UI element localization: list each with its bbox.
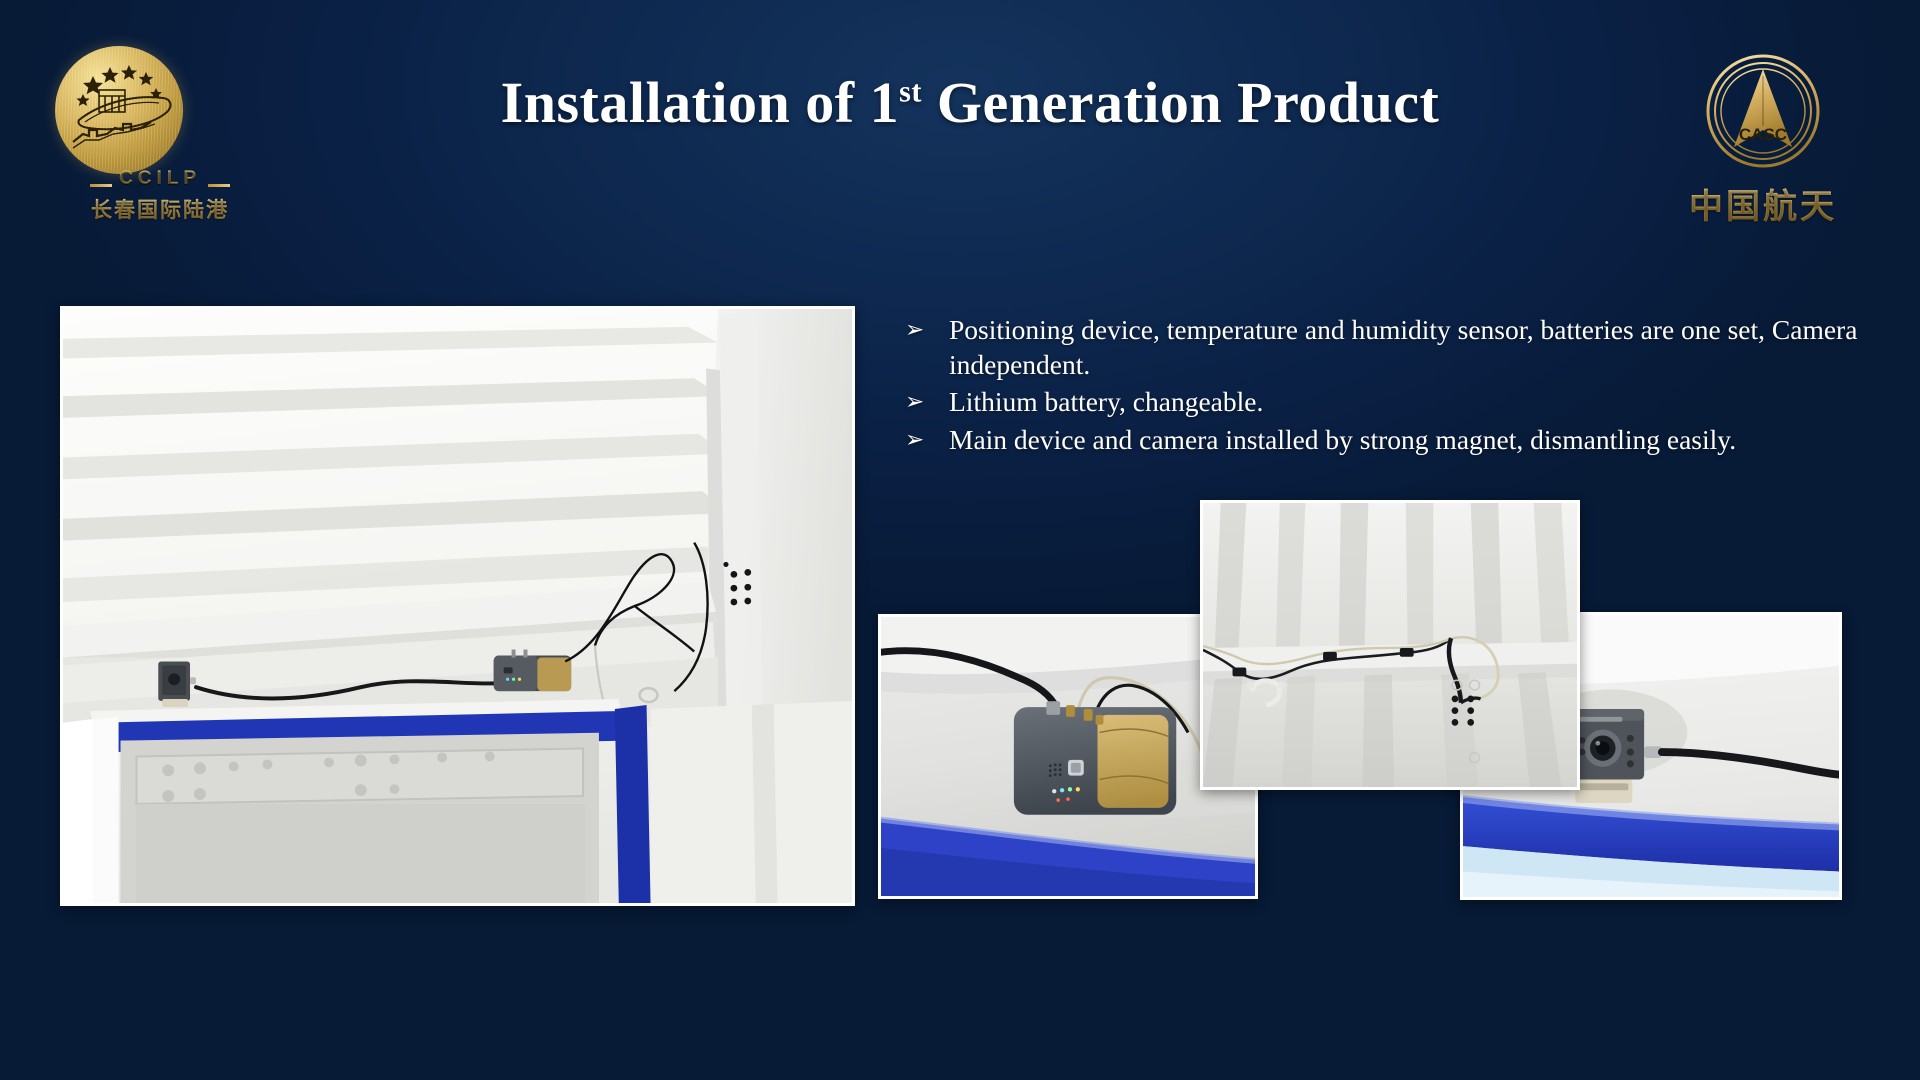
casc-chinese-text: 中国航天 <box>1658 179 1868 228</box>
slide-canvas: CCILP 长春国际陆港 CASC <box>0 0 1920 1080</box>
casc-seal-icon: CASC <box>1704 52 1822 170</box>
bullet-list: ➢ Positioning device, temperature and hu… <box>905 312 1865 459</box>
chevron-bullet-icon: ➢ <box>905 384 949 419</box>
title-ordinal-suffix: st <box>899 75 922 109</box>
photo-cable-routing-image <box>1203 503 1577 787</box>
ccilp-seal-icon <box>55 46 183 174</box>
bullet-text: Positioning device, temperature and humi… <box>949 312 1865 382</box>
casc-logo: CASC 中国航天 <box>1658 52 1868 228</box>
dash-right-icon <box>208 184 230 187</box>
bullet-text: Lithium battery, changeable. <box>949 384 1865 419</box>
title-suffix: Generation Product <box>922 70 1439 135</box>
photo-main-device-image <box>881 617 1255 896</box>
bullet-item: ➢ Main device and camera installed by st… <box>905 422 1865 457</box>
casc-arrow-mark: CASC <box>1704 52 1822 170</box>
page-title: Installation of 1st Generation Product <box>300 72 1640 133</box>
bullet-item: ➢ Positioning device, temperature and hu… <box>905 312 1865 382</box>
dash-left-icon <box>90 184 112 187</box>
bullet-item: ➢ Lithium battery, changeable. <box>905 384 1865 419</box>
bullet-text: Main device and camera installed by stro… <box>949 422 1865 457</box>
chevron-bullet-icon: ➢ <box>905 312 949 347</box>
ccilp-chinese-text: 长春国际陆港 <box>55 194 265 224</box>
casc-mark-text: CASC <box>1739 125 1787 144</box>
ccilp-logo: CCILP 长春国际陆港 <box>55 46 265 224</box>
chevron-bullet-icon: ➢ <box>905 422 949 457</box>
photo-container-interior-image <box>63 309 852 903</box>
ccilp-train-mark <box>55 46 183 174</box>
main-device-in-photo <box>494 650 571 692</box>
photo-cable-routing <box>1200 500 1580 790</box>
ccilp-latin-row: CCILP <box>55 180 265 190</box>
device-body <box>1014 701 1176 815</box>
photo-container-interior <box>60 306 855 906</box>
ccilp-latin-text: CCILP <box>119 168 201 190</box>
title-prefix: Installation of 1 <box>501 70 899 135</box>
